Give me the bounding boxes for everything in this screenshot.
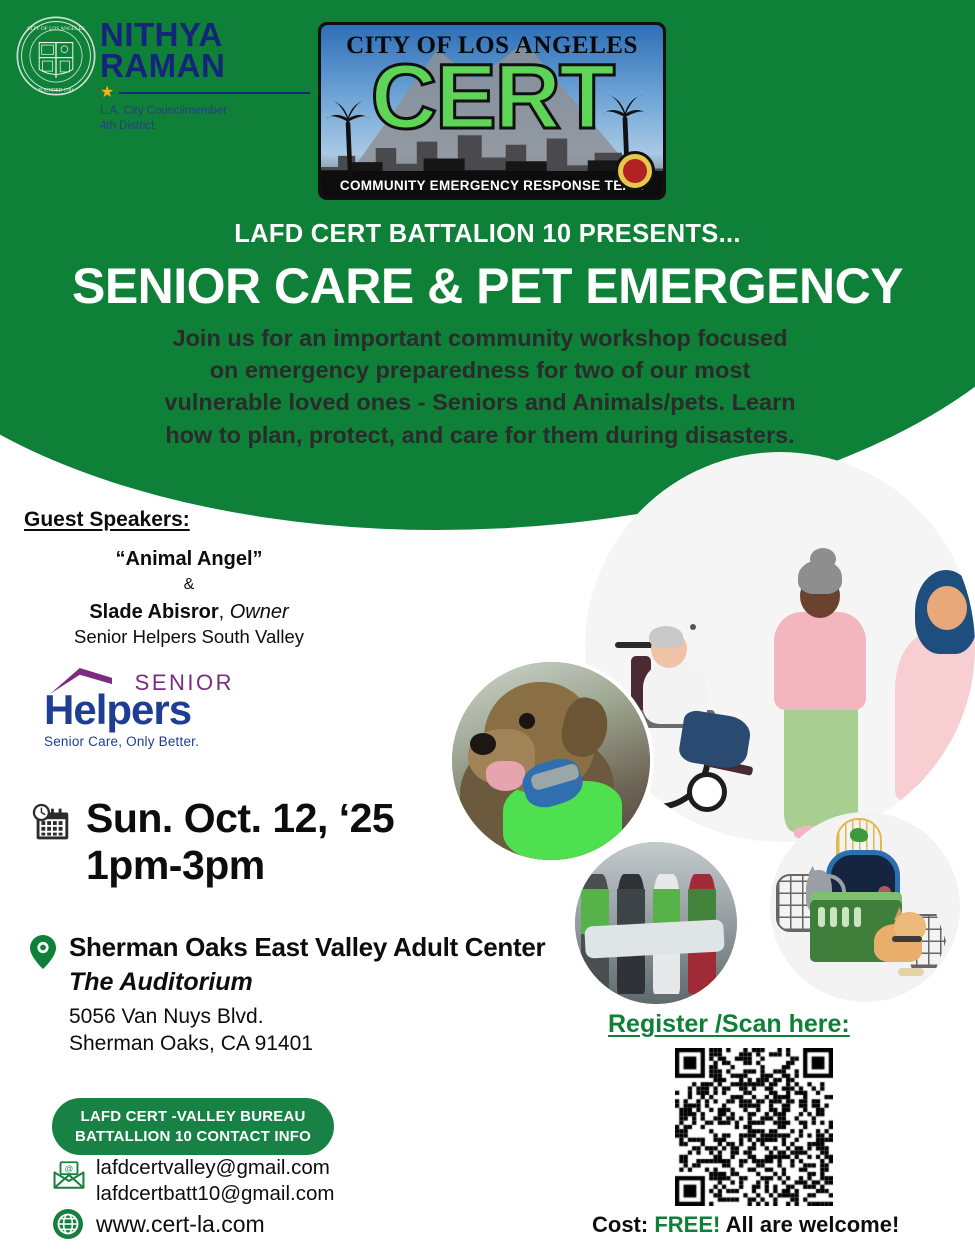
terrier-nose: [470, 733, 496, 755]
pet-carrier-illustration-circle: [770, 812, 960, 1002]
contact-pill-line2: BATTALLION 10 CONTACT INFO: [62, 1127, 324, 1147]
dog-ear-right: [951, 779, 965, 795]
event-location-row: Sherman Oaks East Valley Adult Center Th…: [28, 932, 545, 1058]
illustration-cluster: [430, 430, 975, 1010]
email-icon: @: [52, 1160, 86, 1190]
councilmember-logo: NITHYA RAMAN ★ L.A. City Councilmember 4…: [100, 20, 310, 133]
svg-text:@: @: [65, 1164, 74, 1174]
website-url[interactable]: www.cert-la.com: [96, 1211, 265, 1238]
terrier-photo-circle: [452, 662, 650, 860]
email-contact-row: @ lafdcertvalley@gmail.com lafdcertbatt1…: [52, 1155, 334, 1206]
councilmember-last-name: RAMAN: [100, 51, 310, 82]
qr-canvas[interactable]: [675, 1048, 833, 1206]
globe-icon: [52, 1208, 84, 1240]
dog-bone-icon: [898, 968, 924, 976]
speaker-two-comma: ,: [219, 601, 225, 623]
senior-helpers-logo: SENIOR Helpers Senior Care, Only Better.: [44, 668, 234, 749]
senior-hair: [649, 626, 683, 648]
cost-suffix: All are welcome!: [726, 1212, 900, 1237]
standing-woman-one: [760, 560, 880, 842]
senior-helpers-tagline: Senior Care, Only Better.: [44, 734, 234, 749]
event-datetime: Sun. Oct. 12, ‘25 1pm-3pm: [86, 795, 394, 889]
register-heading: Register /Scan here:: [608, 1010, 850, 1039]
event-date-row: Sun. Oct. 12, ‘25 1pm-3pm: [28, 795, 394, 889]
guest-speakers-section: Guest Speakers: “Animal Angel” & Slade A…: [24, 508, 354, 648]
speaker-two-line: Slade Abisror, Owner: [24, 601, 354, 624]
registration-qr-code[interactable]: [675, 1048, 833, 1206]
house-roof-icon: [50, 668, 112, 694]
lafd-badge-center: [623, 159, 647, 183]
event-room: The Auditorium: [69, 968, 545, 997]
cert-bottom-text: COMMUNITY EMERGENCY RESPONSE TEAM: [321, 178, 663, 193]
cert-acronym: CERT: [321, 51, 663, 143]
dog-beard: [929, 806, 961, 826]
senior-helpers-top-row: SENIOR: [44, 668, 234, 698]
speaker-conjunction: &: [24, 576, 354, 594]
event-venue: Sherman Oaks East Valley Adult Center: [69, 932, 545, 963]
email-address-1[interactable]: lafdcertvalley@gmail.com: [96, 1155, 334, 1181]
svg-text:CITY OF LOS ANGELES: CITY OF LOS ANGELES: [27, 26, 84, 32]
cost-label: Cost:: [592, 1212, 648, 1237]
flyer-page: CITY OF LOS ANGELES FOUNDED 1781 NITHYA …: [0, 0, 975, 1257]
woman-two-robe: [895, 632, 975, 800]
senior-helpers-word-senior: SENIOR: [135, 670, 234, 696]
contact-pill-line1: LAFD CERT -VALLEY BUREAU: [62, 1107, 324, 1127]
cost-line: Cost: FREE! All are welcome!: [592, 1212, 899, 1238]
contact-info-pill: LAFD CERT -VALLEY BUREAU BATTALLION 10 C…: [52, 1098, 334, 1155]
speaker-two-name: Slade Abisror: [89, 601, 218, 623]
event-address-line1: 5056 Van Nuys Blvd.: [69, 1003, 545, 1030]
calendar-clock-icon: [28, 801, 74, 847]
senior-legs: [677, 709, 752, 771]
event-address: 5056 Van Nuys Blvd. Sherman Oaks, CA 914…: [69, 1003, 545, 1058]
page-title: SENIOR CARE & PET EMERGENCY: [0, 257, 975, 315]
councilmember-title-line2: 4th District: [100, 119, 310, 133]
councilmember-divider: ★: [100, 85, 310, 101]
email-addresses: lafdcertvalley@gmail.com lafdcertbatt10@…: [96, 1155, 334, 1206]
speaker-two-org: Senior Helpers South Valley: [24, 626, 354, 648]
cost-value: FREE!: [654, 1212, 720, 1237]
intro-paragraph: Join us for an important community works…: [155, 322, 805, 451]
dog-ear-left: [927, 779, 941, 795]
event-location-text: Sherman Oaks East Valley Adult Center Th…: [69, 932, 545, 1058]
woman-one-skirt: [784, 702, 858, 832]
wheelchair-handle: [615, 642, 655, 648]
parrot-icon: [850, 828, 868, 842]
presents-line: LAFD CERT BATTALION 10 PRESENTS...: [0, 220, 975, 249]
website-contact-row[interactable]: www.cert-la.com: [52, 1208, 265, 1240]
email-address-2[interactable]: lafdcertbatt10@gmail.com: [96, 1181, 334, 1207]
event-address-line2: Sherman Oaks, CA 91401: [69, 1030, 545, 1057]
event-date: Sun. Oct. 12, ‘25: [86, 795, 394, 842]
decorative-dot: [690, 624, 696, 630]
cert-logo-frame: CITY OF LOS ANGELES CERT COMMUNITY EMERG…: [318, 22, 666, 200]
cert-logo: CITY OF LOS ANGELES CERT COMMUNITY EMERG…: [313, 17, 671, 205]
terrier-tongue: [486, 761, 526, 791]
carrier-vents: [818, 907, 861, 927]
la-city-seal-icon: CITY OF LOS ANGELES FOUNDED 1781: [14, 14, 98, 98]
carrier-dog-collar: [892, 936, 922, 942]
star-icon: ★: [100, 85, 114, 101]
woman-two-face: [927, 586, 967, 630]
lafd-badge-icon: [615, 151, 655, 191]
councilmember-title: L.A. City Councilmember 4th District: [100, 104, 310, 133]
svg-text:FOUNDED 1781: FOUNDED 1781: [38, 87, 74, 93]
map-pin-icon: [28, 934, 58, 970]
wheelchair-small-wheel: [687, 772, 727, 812]
councilmember-title-line1: L.A. City Councilmember: [100, 104, 310, 118]
woman-one-hair-bun: [810, 548, 836, 570]
flyer-header: CITY OF LOS ANGELES FOUNDED 1781 NITHYA …: [0, 0, 975, 205]
guest-speakers-heading: Guest Speakers:: [24, 508, 354, 532]
divider-line: [119, 92, 310, 94]
event-time: 1pm-3pm: [86, 842, 394, 889]
speaker-two-role: Owner: [230, 601, 289, 623]
cert-rescue-photo-circle: [575, 842, 737, 1004]
woman-one-top: [774, 612, 866, 710]
speaker-one-name: “Animal Angel”: [24, 548, 354, 571]
